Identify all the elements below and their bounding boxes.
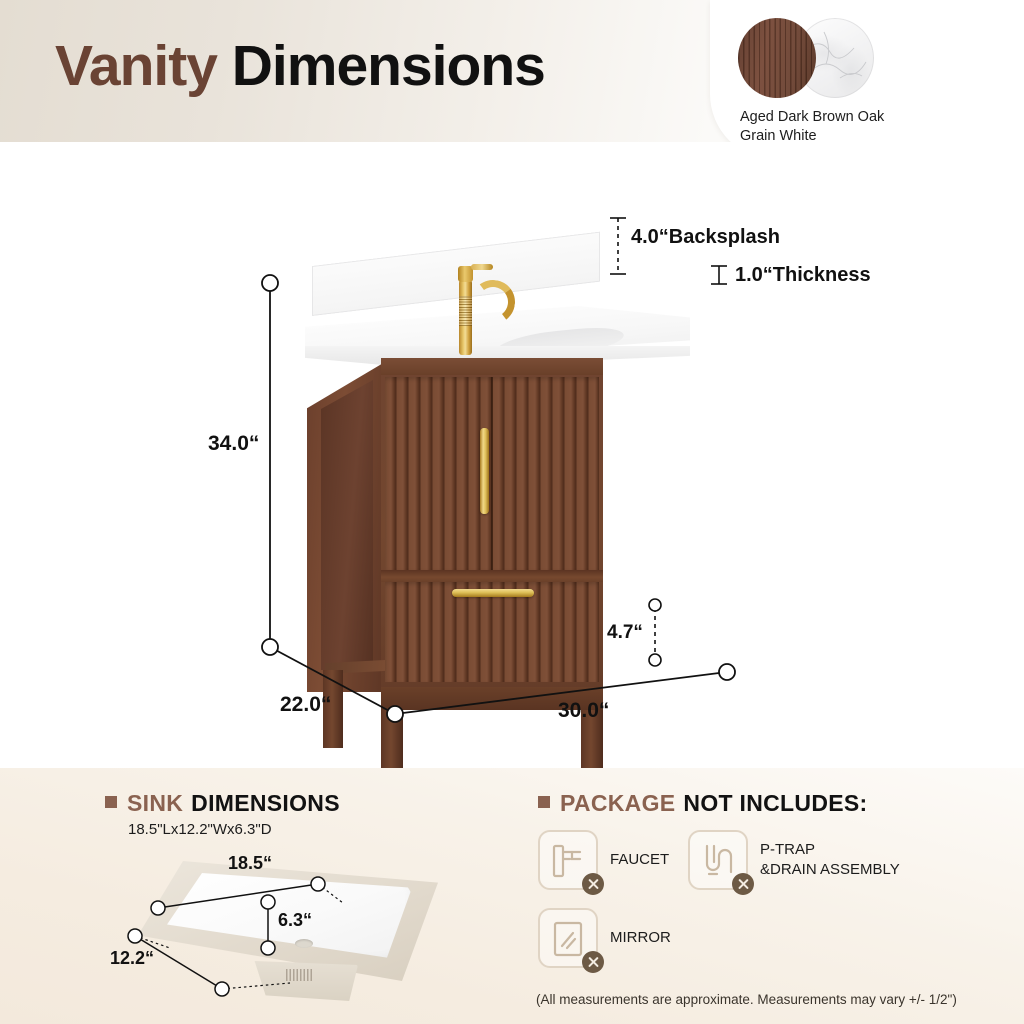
bottom-panel: SINKDIMENSIONS 18.5"Lx12.2"Wx6.3"D: [0, 768, 1024, 1024]
color-swatch-card: Aged Dark Brown Oak Grain White: [710, 0, 1024, 160]
package-item-p-trap: P-TRAP &DRAIN ASSEMBLY: [688, 830, 918, 894]
sink-dim-length: 18.5“: [228, 853, 272, 874]
faucet-fixture: [445, 252, 505, 362]
dim-backsplash-label: 4.0“Backsplash: [631, 226, 780, 249]
wood-swatch: [738, 18, 816, 98]
square-bullet-icon: [538, 796, 550, 808]
vanity-illustration: [295, 262, 705, 792]
p-trap-item-label: P-TRAP &DRAIN ASSEMBLY: [760, 840, 900, 881]
dim-thickness-label: 1.0“Thickness: [735, 264, 871, 287]
faucet-lever: [471, 264, 493, 270]
swatch-circles: [738, 18, 908, 98]
dim-depth-label: 22.0“: [280, 693, 331, 717]
faucet-knurling: [459, 296, 472, 326]
package-heading-main: NOT INCLUDES:: [683, 790, 867, 817]
dim-height-label: 34.0“: [208, 432, 259, 456]
door-center-seam: [491, 377, 493, 570]
sink-heading-accent: SINK: [127, 790, 183, 817]
square-bullet-icon: [105, 796, 117, 808]
drawer-reveal: [381, 570, 603, 582]
dim-width-label: 30.0“: [558, 699, 609, 723]
dim-leg-clearance-label: 4.7“: [607, 622, 643, 644]
package-item-mirror: MIRROR: [538, 908, 698, 972]
faucet-excluded-badge: [582, 873, 604, 895]
vanity-stage: 4.0“Backsplash 1.0“Thickness 34.0“ 22.0“…: [0, 142, 1024, 768]
sink-subtitle: 18.5"Lx12.2"Wx6.3"D: [128, 821, 272, 838]
swatch-label-line1: Aged Dark Brown Oak: [740, 108, 1000, 127]
infographic-page: Vanity Dimensions Aged Dark Brown Oak Gr…: [0, 0, 1024, 1024]
title-word-dimensions: Dimensions: [232, 34, 545, 98]
sink-dim-depth: 6.3“: [278, 910, 312, 931]
p-trap-excluded-badge: [732, 873, 754, 895]
package-heading-accent: PACKAGE: [560, 790, 675, 817]
sink-dim-width: 12.2“: [110, 948, 154, 969]
drawer-handle-horizontal: [452, 589, 534, 597]
sink-drain: [295, 939, 313, 948]
mirror-excluded-badge: [582, 951, 604, 973]
page-title: Vanity Dimensions: [55, 33, 545, 99]
measurement-disclaimer: (All measurements are approximate. Measu…: [536, 992, 957, 1007]
sink-section-heading: SINKDIMENSIONS: [105, 790, 340, 817]
sink-skirt: [248, 961, 358, 1001]
cabinet-top-rail: [381, 358, 603, 375]
faucet-item-label: FAUCET: [610, 850, 669, 870]
package-item-faucet: FAUCET: [538, 830, 678, 894]
sink-branding-mark: [286, 969, 312, 981]
package-section-heading: PACKAGENOT INCLUDES:: [538, 790, 867, 817]
door-handle-vertical: [480, 428, 489, 514]
mirror-item-label: MIRROR: [610, 928, 671, 948]
cabinet-side-inset: [321, 380, 373, 670]
title-word-vanity: Vanity: [55, 34, 217, 98]
swatch-label: Aged Dark Brown Oak Grain White: [740, 108, 1000, 146]
sink-heading-main: DIMENSIONS: [191, 790, 340, 817]
fluted-drawer-panel: [385, 582, 599, 682]
